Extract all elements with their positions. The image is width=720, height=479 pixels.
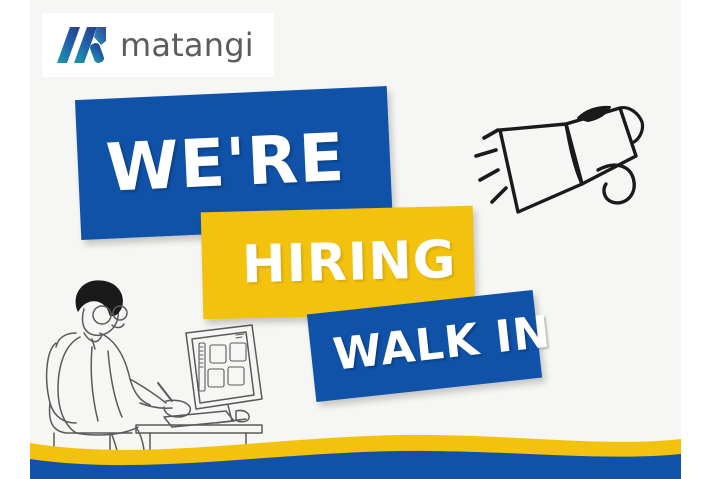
banner-were-text: WE'RE — [105, 125, 347, 202]
brand-logo-badge: matangi — [42, 13, 274, 77]
matangi-m-logo-icon — [56, 25, 108, 65]
banner-hiring-text: HIRING — [241, 234, 457, 291]
banner-walkin-text: WALK IN — [331, 310, 553, 377]
wave-footer — [30, 409, 681, 479]
megaphone-illustration — [470, 88, 670, 218]
brand-wordmark: matangi — [120, 29, 254, 61]
poster-stage: matangi — [0, 0, 720, 479]
hiring-poster: matangi — [30, 0, 681, 479]
